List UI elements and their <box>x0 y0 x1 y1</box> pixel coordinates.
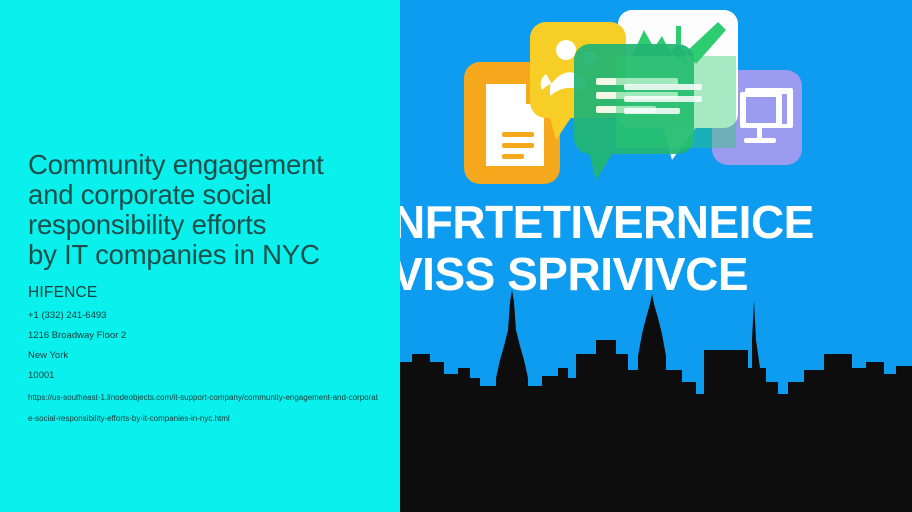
contact-street: 1216 Broadway Floor 2 <box>28 326 388 346</box>
contact-city: New York <box>28 346 388 366</box>
page-title: Community engagement and corporate socia… <box>28 150 394 270</box>
promotional-banner: Community engagement and corporate socia… <box>0 0 912 512</box>
city-skyline-silhouette <box>400 282 912 512</box>
left-info-panel: Community engagement and corporate socia… <box>0 0 400 512</box>
right-image-panel: NFRTETIVERNEICE VISS SPRIVIVCE <box>400 0 912 512</box>
speech-bubble-cards-illustration <box>400 0 912 200</box>
source-url[interactable]: https://us-southeast-1.linodeobjects.com… <box>28 387 378 429</box>
contact-zip: 10001 <box>28 366 388 386</box>
brand-name: HIFENCE <box>28 283 97 302</box>
contact-block: +1 (332) 241-6493 1216 Broadway Floor 2 … <box>28 306 388 386</box>
contact-phone: +1 (332) 241-6493 <box>28 306 388 326</box>
